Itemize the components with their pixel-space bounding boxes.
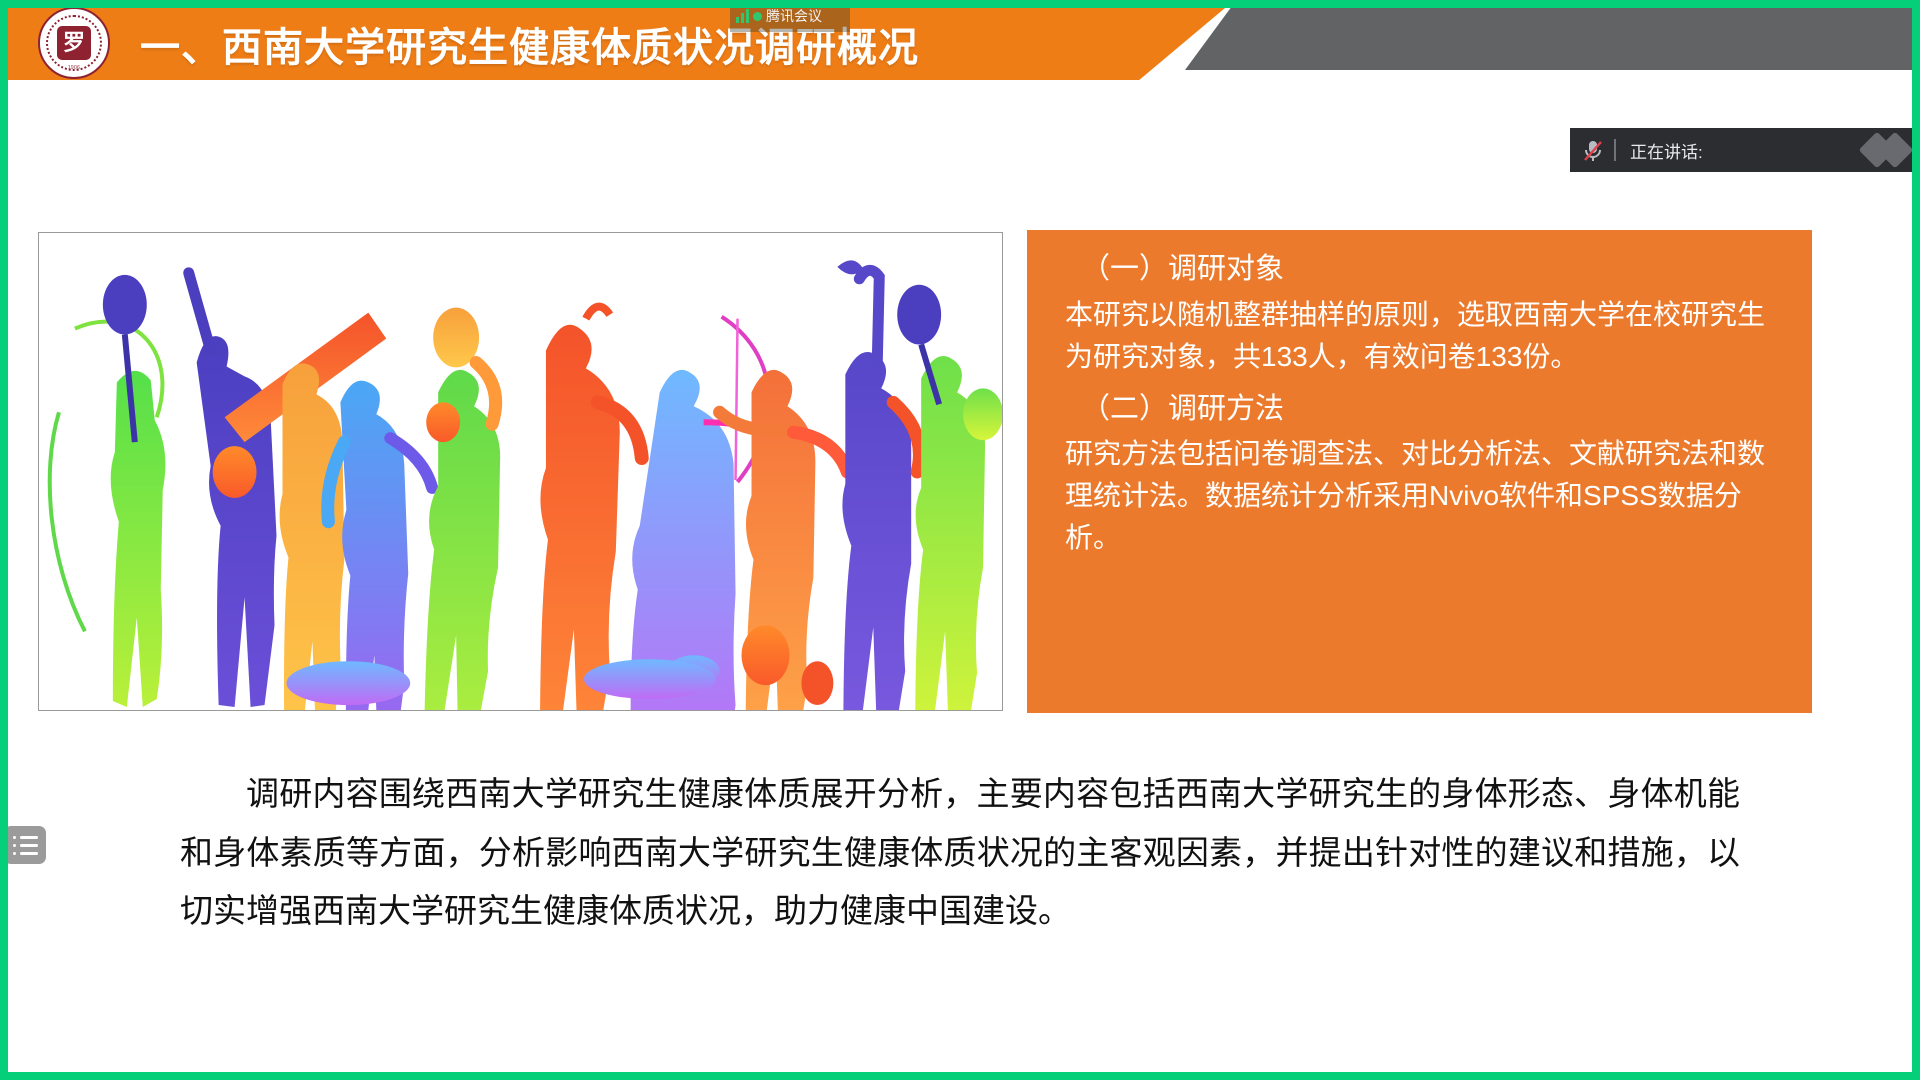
seal-glyph: 罗 (57, 26, 91, 60)
sports-silhouettes-graphic (39, 233, 1002, 710)
sports-illustration (38, 232, 1003, 711)
section-gap (1065, 378, 1784, 388)
list-icon-row (13, 844, 38, 847)
tencent-meeting-watermark: 腾讯会议 (730, 0, 850, 32)
speaking-label: 正在讲话: (1630, 138, 1703, 163)
bar-divider (1614, 139, 1616, 161)
watermark-label: 腾讯会议 (766, 6, 822, 26)
info-body-2: 研究方法包括问卷调查法、对比分析法、文献研究法和数理统计法。数据统计分析采用Nv… (1065, 433, 1784, 559)
microphone-muted-icon[interactable] (1570, 128, 1614, 172)
info-heading-1: （一）调研对象 (1081, 248, 1784, 292)
seal-ring: 罗 (46, 15, 102, 71)
seal-year: 1906 (68, 65, 80, 71)
info-body-1: 本研究以随机整群抽样的原则，选取西南大学在校研究生为研究对象，共133人，有效问… (1065, 294, 1784, 378)
info-panel: （一）调研对象 本研究以随机整群抽样的原则，选取西南大学在校研究生为研究对象，共… (1027, 230, 1812, 713)
list-icon-rows (13, 836, 38, 855)
list-view-icon[interactable] (4, 826, 46, 864)
speaking-indicator-bar[interactable]: 正在讲话: (1570, 128, 1920, 172)
header-gray-shape (1185, 8, 1920, 70)
info-heading-2: （二）调研方法 (1081, 388, 1784, 432)
body-paragraph: 调研内容围绕西南大学研究生健康体质展开分析，主要内容包括西南大学研究生的身体形态… (180, 765, 1740, 941)
signal-bars-icon (736, 9, 749, 23)
university-seal-logo: 罗 1906 (38, 7, 110, 79)
list-icon-row (13, 852, 38, 855)
double-chevron-icon[interactable] (1872, 137, 1908, 163)
list-icon-row (13, 836, 38, 839)
green-dot-icon (753, 12, 762, 21)
